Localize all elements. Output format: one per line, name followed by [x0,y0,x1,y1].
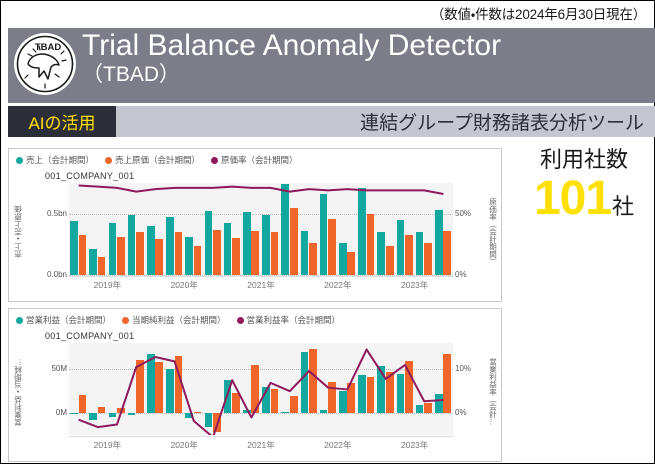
plot-area: 営業利益・当期純… 営業利益率（会計… 50M0M 10%0% 2019年202… [9,343,501,451]
x-tick-label: 2020年 [170,279,197,291]
legend-label: 売上原価（会計期間） [115,154,200,166]
y-ticks-left: 50M0M [25,343,67,435]
y-ticks-right: 50%0% [455,183,485,275]
line-series-overlay [69,183,453,275]
x-tick-label: 2022年 [324,279,351,291]
legend-label: 当期純利益（会計期間） [132,314,226,326]
line-path [79,185,444,194]
y-tick-label-left: 50M [51,364,67,373]
y-axis-label-left: 営業利益・当期純… [12,349,24,435]
y-tick-label-right: 10% [455,364,471,373]
as-of-note: （数値・件数は2024年6月30日現在） [431,3,646,23]
chart-title: 001_COMPANY_001 [9,166,501,181]
title-block: Trial Balance Anomaly Detector （TBAD） [82,27,501,87]
legend-item[interactable]: 原価率（会計期間） [211,154,298,166]
legend-item[interactable]: 当期純利益（会計期間） [122,314,226,326]
y-tick-label-right: 50% [455,209,471,218]
x-tick-label: 2021年 [247,439,274,451]
x-tick-label: 2019年 [94,439,121,451]
plot-area: 売上・売上原価 原価率（会計期間） 0.5bn0.0bn 50%0% 2019年… [9,183,501,291]
y-ticks-right: 10%0% [455,343,485,435]
x-tick-label: 2023年 [401,439,428,451]
legend-item[interactable]: 営業利益率（会計期間） [237,314,341,326]
x-tick-label: 2023年 [401,279,428,291]
legend-swatch-icon [16,317,23,324]
x-tick-label: 2019年 [94,279,121,291]
legend-swatch-icon [211,157,218,164]
x-tick-label: 2022年 [324,439,351,451]
ai-usage-tag: AIの活用 [8,106,116,137]
y-axis-label-left: 売上・売上原価 [12,189,24,275]
legend-label: 売上（会計期間） [26,154,94,166]
plot-grid [69,183,453,275]
app-header: TBAD Trial Balance Anomaly Detector （TBA… [8,28,655,103]
chart-card-sales[interactable]: 売上（会計期間） 売上原価（会計期間） 原価率（会計期間） 001_COMPAN… [8,148,502,302]
legend-swatch-icon [237,317,244,324]
chart-title: 001_COMPANY_001 [9,326,501,341]
y-tick-label-right: 0% [455,408,467,417]
usage-stat-value-row: 101 社 [516,173,652,225]
y-tick-label-left: 0M [56,408,67,417]
legend-item[interactable]: 売上原価（会計期間） [105,154,200,166]
usage-stat-panel: 利用社数 101 社 [516,147,652,257]
legend-label: 原価率（会計期間） [221,154,298,166]
usage-stat-unit: 社 [612,189,634,221]
subtitle-band: AIの活用 連結グループ財務諸表分析ツール [8,106,655,137]
y-tick-label-right: 0% [455,270,467,279]
app-subtitle: 連結グループ財務諸表分析ツール [360,106,644,137]
tbad-logo-icon: TBAD [14,33,76,95]
y-axis-label-right: 原価率（会計期間） [487,189,499,275]
x-axis: 2019年2020年2021年2022年2023年 [69,276,453,292]
usage-stat-label: 利用社数 [516,147,652,173]
legend-item[interactable]: 営業利益（会計期間） [16,314,111,326]
app-title-abbrev: （TBAD） [82,63,501,87]
legend-item[interactable]: 売上（会計期間） [16,154,94,166]
plot-grid [69,343,453,435]
legend-swatch-icon [16,157,23,164]
y-ticks-left: 0.5bn0.0bn [25,183,67,275]
chart-legend: 営業利益（会計期間） 当期純利益（会計期間） 営業利益率（会計期間） [9,309,501,326]
line-path [79,350,444,435]
legend-label: 営業利益（会計期間） [26,314,111,326]
app-page: （数値・件数は2024年6月30日現在） TBAD [0,0,655,464]
x-tick-label: 2021年 [247,279,274,291]
legend-label: 営業利益率（会計期間） [247,314,341,326]
legend-swatch-icon [105,157,112,164]
x-axis: 2019年2020年2021年2022年2023年 [69,436,453,452]
y-tick-label-left: 0.5bn [47,209,67,218]
usage-stat-number: 101 [534,173,611,225]
chart-card-profit[interactable]: 営業利益（会計期間） 当期純利益（会計期間） 営業利益率（会計期間） 001_C… [8,308,502,462]
x-tick-label: 2020年 [170,439,197,451]
y-axis-label-right: 営業利益率（会計… [487,349,499,435]
legend-swatch-icon [122,317,129,324]
line-series-overlay [69,343,453,435]
app-title: Trial Balance Anomaly Detector [82,27,501,65]
chart-legend: 売上（会計期間） 売上原価（会計期間） 原価率（会計期間） [9,149,501,166]
y-tick-label-left: 0.0bn [47,270,67,279]
